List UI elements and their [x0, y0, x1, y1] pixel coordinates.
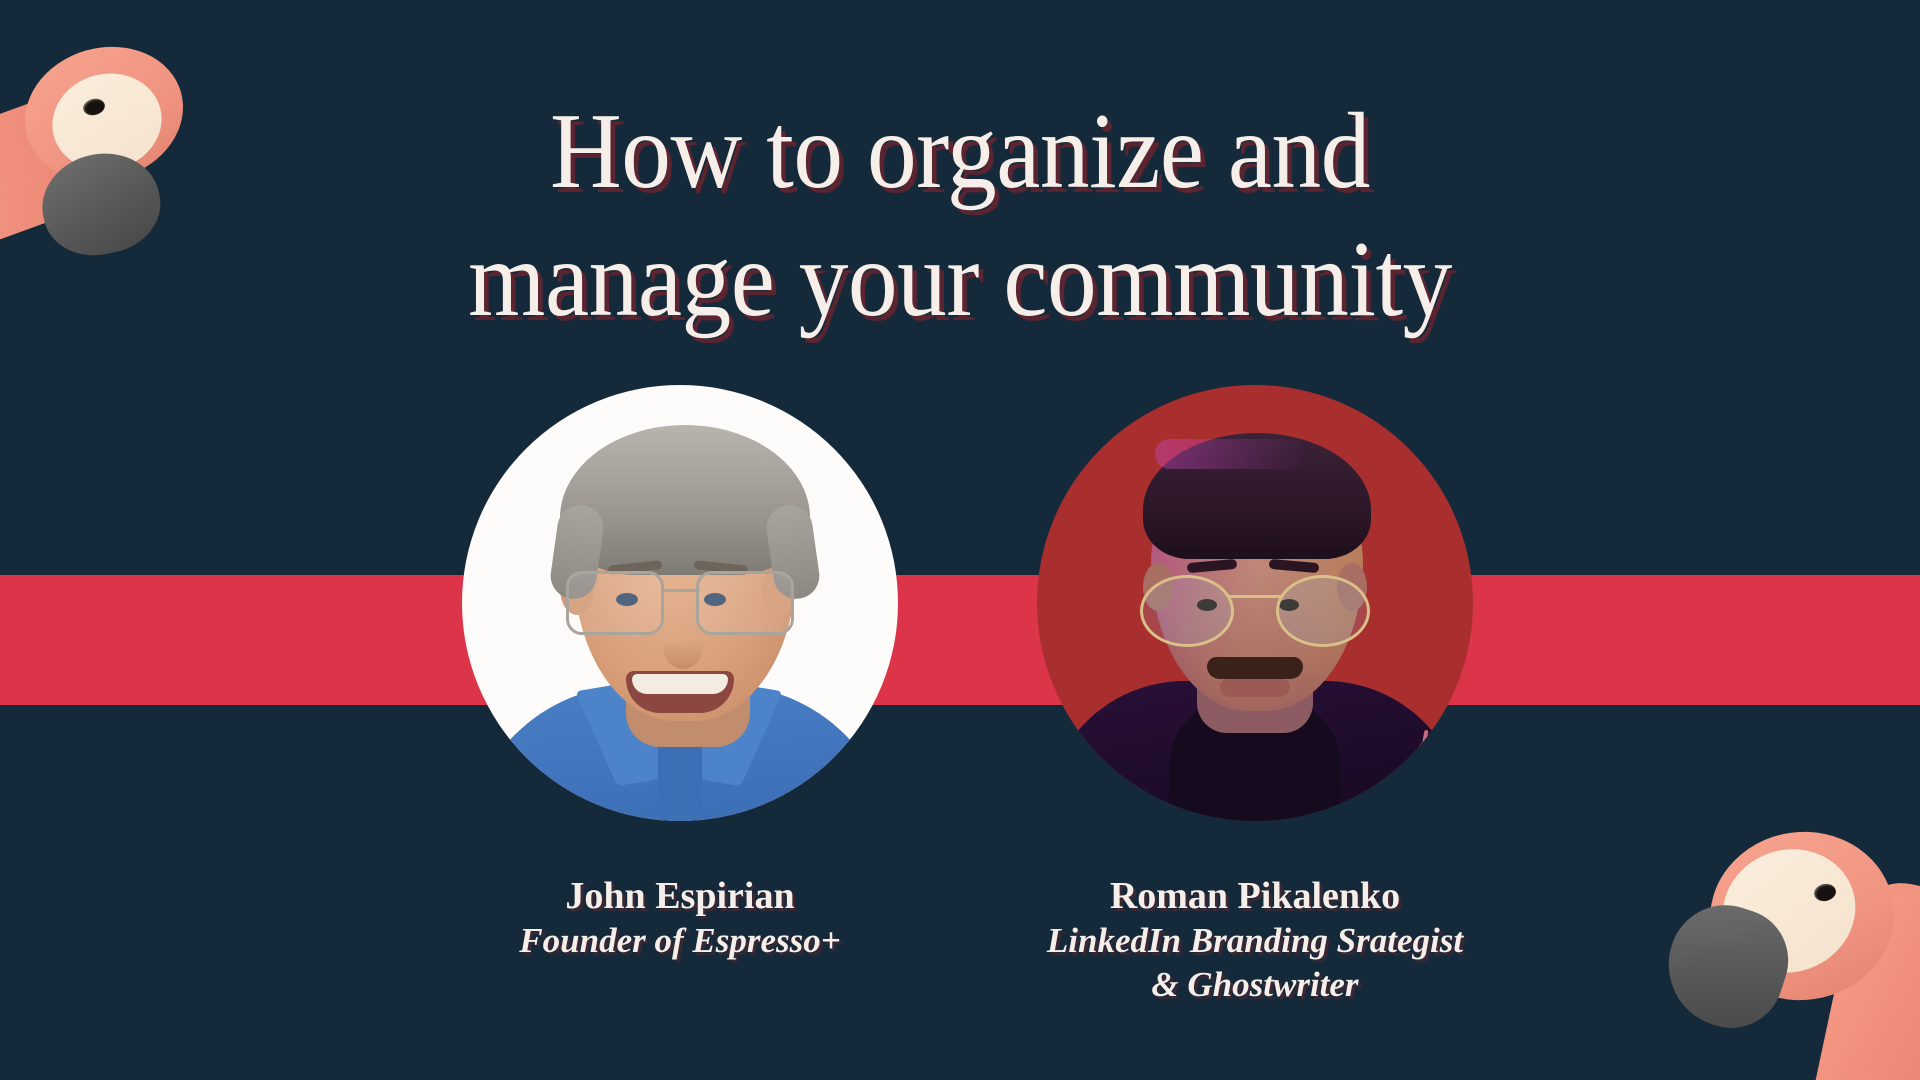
shirt-flamingo-motif: [1414, 740, 1434, 772]
speaker-role-line-1: LinkedIn Branding Srategist: [965, 919, 1545, 963]
hair: [560, 425, 810, 575]
moustache: [1207, 657, 1303, 679]
roman-pikalenko-photo: [1037, 385, 1473, 821]
eyeglasses-icon: [552, 571, 808, 633]
shirt-flamingo-motif: [1070, 734, 1091, 766]
lens-right: [1276, 575, 1370, 647]
webinar-title-slide: How to organize and manage your communit…: [0, 0, 1920, 1080]
speaker-list: John Espirian Founder of Espresso+: [0, 0, 1920, 1080]
mouth: [1220, 679, 1290, 697]
lens-left: [566, 571, 664, 635]
hair: [1143, 433, 1371, 559]
shirt-placket: [658, 737, 702, 821]
eyeglasses-icon: [1140, 575, 1370, 641]
speaker-caption: John Espirian Founder of Espresso+: [390, 873, 970, 963]
flamingo-plush-icon: [0, 0, 242, 256]
lens-left: [1140, 575, 1234, 647]
lens-right: [696, 571, 794, 635]
speaker-name: Roman Pikalenko: [965, 873, 1545, 919]
speaker-role: Founder of Espresso+: [390, 919, 970, 963]
john-espirian-photo: [462, 385, 898, 821]
glasses-bridge: [662, 589, 700, 592]
avatar: [1037, 385, 1473, 821]
shirt-flamingo-motif: [1113, 808, 1132, 821]
speaker-caption: Roman Pikalenko LinkedIn Branding Srateg…: [965, 873, 1545, 1007]
speaker-roman-pikalenko: Roman Pikalenko LinkedIn Branding Srateg…: [965, 385, 1545, 1007]
speaker-name: John Espirian: [390, 873, 970, 919]
avatar: [462, 385, 898, 821]
speaker-role-line-2: & Ghostwriter: [965, 963, 1545, 1007]
flamingo-plush-icon: [1656, 810, 1920, 1080]
shirt-flamingo-motif: [1372, 812, 1392, 821]
speaker-john-espirian: John Espirian Founder of Espresso+: [390, 385, 970, 963]
teeth: [632, 674, 728, 694]
glasses-bridge: [1228, 595, 1282, 598]
mouth: [626, 671, 734, 713]
